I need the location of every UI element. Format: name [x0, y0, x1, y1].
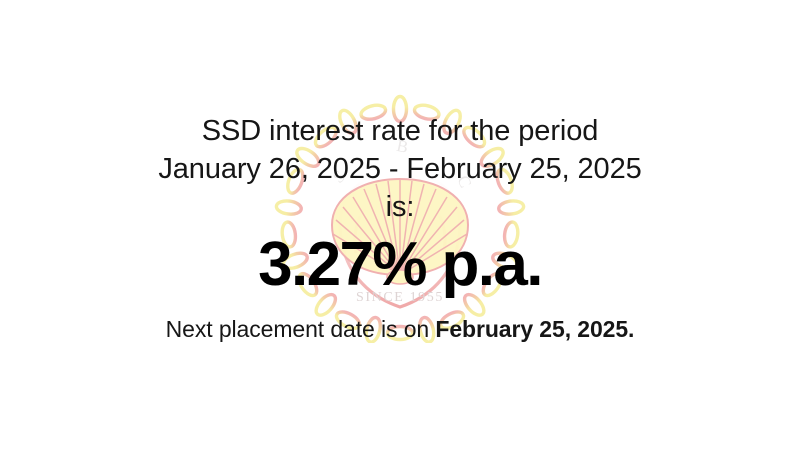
- headline-line-3: is:: [158, 188, 641, 226]
- announcement-content: SSD interest rate for the period January…: [0, 0, 800, 450]
- announcement-card: S B C A: [0, 0, 800, 450]
- next-placement-date: February 25, 2025.: [435, 316, 634, 342]
- headline-period-range: January 26, 2025 - February 25, 2025: [158, 150, 641, 188]
- headline-line-1: SSD interest rate for the period: [202, 115, 599, 147]
- next-placement-note: Next placement date is on February 25, 2…: [166, 314, 635, 344]
- next-placement-prefix: Next placement date is on: [166, 316, 436, 342]
- announcement-headline: SSD interest rate for the period January…: [158, 112, 641, 226]
- interest-rate-value: 3.27% p.a.: [258, 232, 542, 298]
